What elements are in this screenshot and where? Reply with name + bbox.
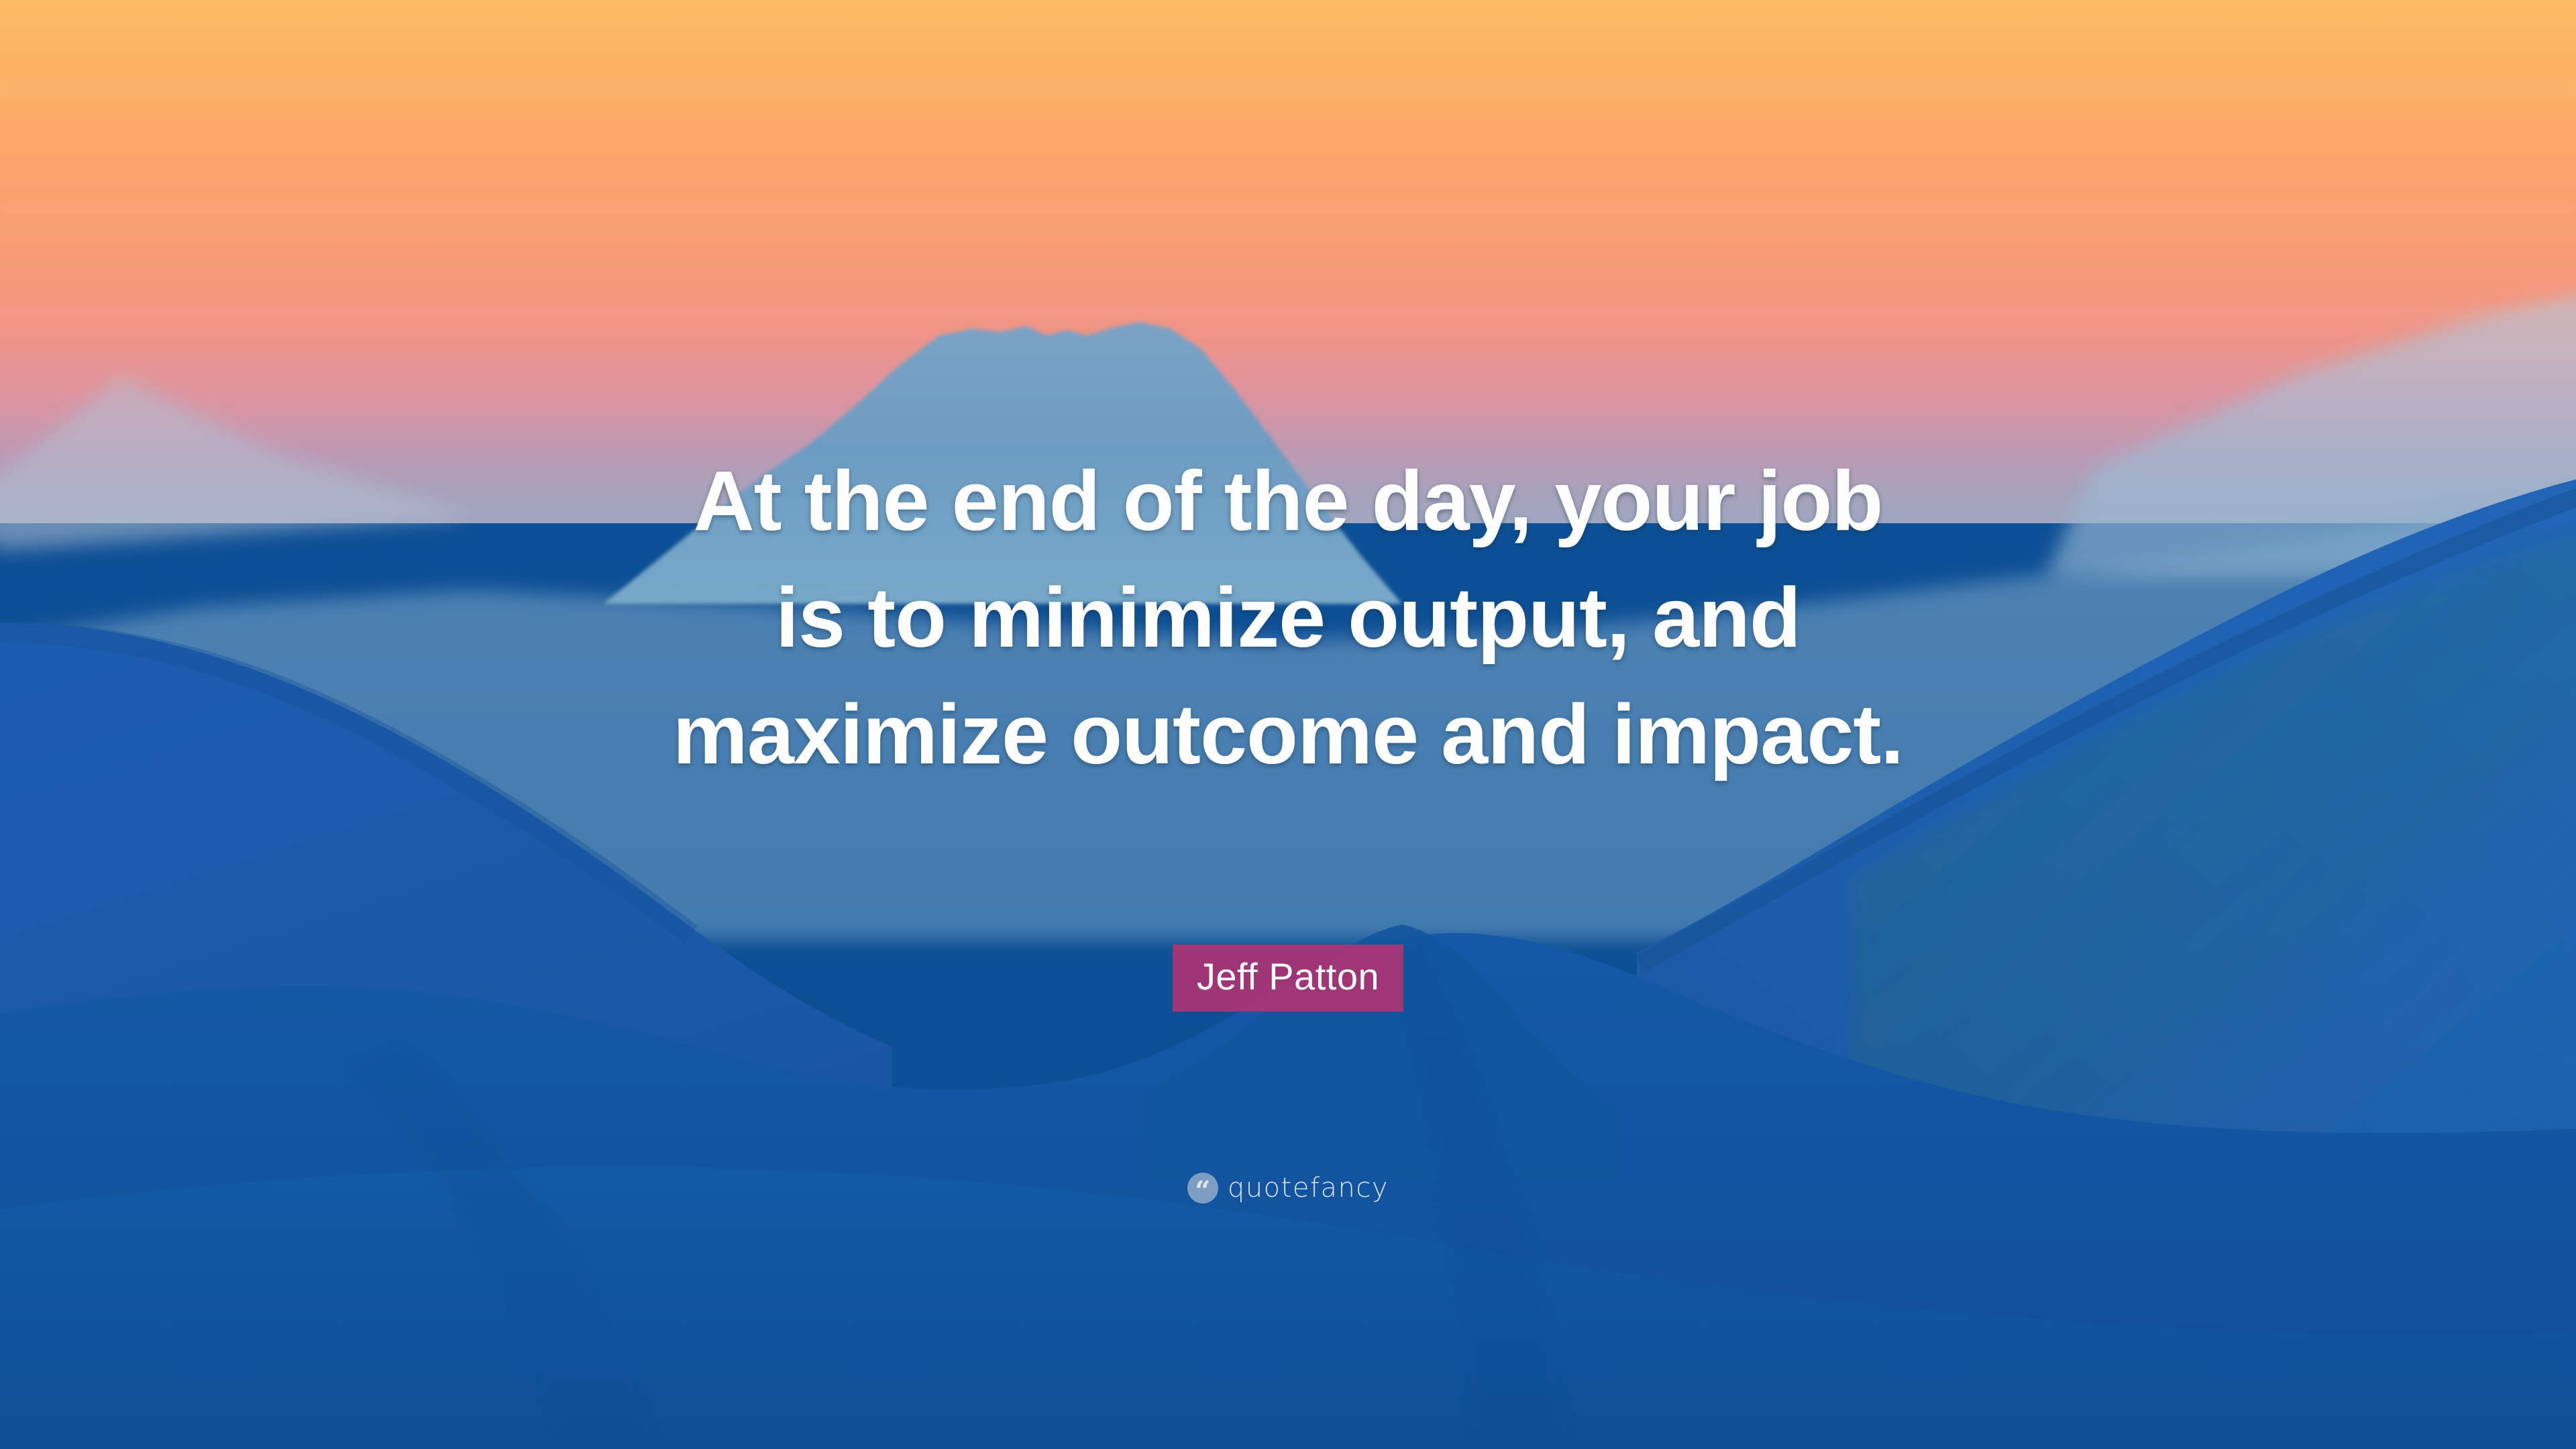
double-quote-icon: “ xyxy=(1187,1173,1218,1203)
watermark-brand-label: quotefancy xyxy=(1228,1173,1389,1203)
quote-wallpaper: At the end of the day, your job is to mi… xyxy=(0,0,2576,1449)
quote-line-2: is to minimize output, and xyxy=(0,559,2576,676)
quote-text-block: At the end of the day, your job is to mi… xyxy=(0,443,2576,793)
quote-line-3: maximize outcome and impact. xyxy=(0,676,2576,793)
quote-line-1: At the end of the day, your job xyxy=(0,443,2576,559)
quotefancy-watermark: “ quotefancy xyxy=(0,1173,2576,1203)
author-attribution: Jeff Patton xyxy=(0,945,2576,1012)
author-name-badge: Jeff Patton xyxy=(1173,945,1403,1012)
